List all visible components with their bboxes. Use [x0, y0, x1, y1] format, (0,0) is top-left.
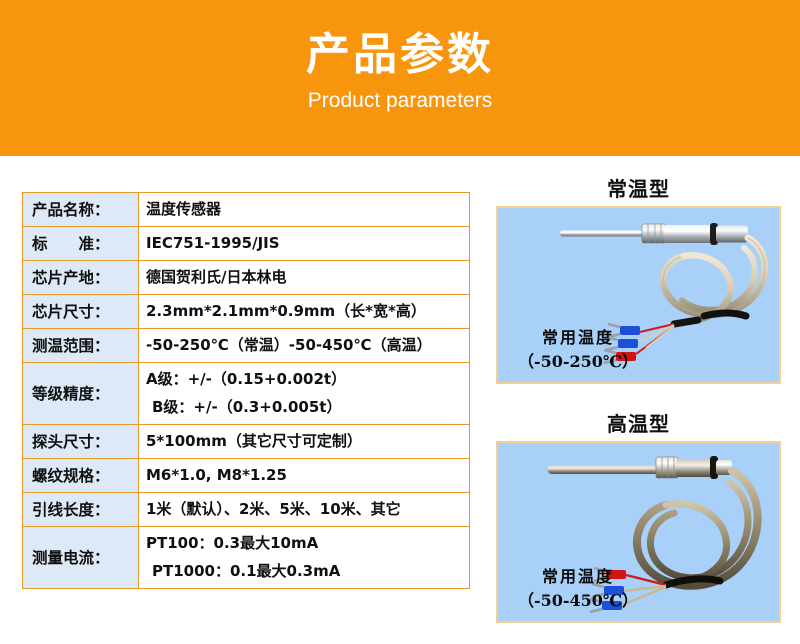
- product-card-title-normal-temp: 常温型: [496, 176, 781, 206]
- spec-value-standard: IEC751-1995/JIS: [139, 227, 470, 261]
- spec-label-measuring-current: 测量电流：: [23, 527, 139, 589]
- caption-line-1: 常用温度: [508, 565, 648, 589]
- spec-label-probe-size: 探头尺寸：: [23, 425, 139, 459]
- table-row: 产品名称： 温度传感器: [23, 193, 470, 227]
- page-header-banner: 产品参数 Product parameters: [0, 0, 800, 156]
- page-subtitle: Product parameters: [0, 88, 800, 114]
- table-row: 等级精度： A级：+/-（0.15+0.002t） B级：+/-（0.3+0.0…: [23, 363, 470, 425]
- spec-value-product-name: 温度传感器: [139, 193, 470, 227]
- product-photo-caption-high-temp: 常用温度 （-50-450℃）: [508, 565, 648, 613]
- spec-label-temp-range: 测温范围：: [23, 329, 139, 363]
- table-row: 标 准： IEC751-1995/JIS: [23, 227, 470, 261]
- banner-text-group: 产品参数 Product parameters: [0, 28, 800, 114]
- spec-label-thread-spec: 螺纹规格：: [23, 459, 139, 493]
- current-pt1000: PT1000：0.1最大0.3mA: [146, 561, 465, 582]
- table-row: 芯片产地： 德国贺利氏/日本林电: [23, 261, 470, 295]
- spec-label-chip-size: 芯片尺寸：: [23, 295, 139, 329]
- spec-table-body: 产品名称： 温度传感器 标 准： IEC751-1995/JIS 芯片产地： 德…: [23, 193, 470, 589]
- table-row: 螺纹规格： M6*1.0, M8*1.25: [23, 459, 470, 493]
- table-row: 测温范围： -50-250℃（常温）-50-450℃（高温）: [23, 329, 470, 363]
- spec-value-probe-size: 5*100mm（其它尺寸可定制）: [139, 425, 470, 459]
- spec-value-lead-length: 1米（默认）、2米、5米、10米、其它: [139, 493, 470, 527]
- spec-label-standard: 标 准：: [23, 227, 139, 261]
- caption-line-2: （-50-450℃）: [508, 589, 648, 613]
- table-row: 测量电流： PT100：0.3最大10mA PT1000：0.1最大0.3mA: [23, 527, 470, 589]
- product-card-high-temp: 高温型: [496, 411, 781, 623]
- spec-label-chip-origin: 芯片产地：: [23, 261, 139, 295]
- product-photo-high-temp: 常用温度 （-50-450℃）: [496, 441, 781, 623]
- accuracy-class-b: B级：+/-（0.3+0.005t）: [146, 397, 465, 418]
- caption-line-2: （-50-250℃）: [508, 350, 648, 374]
- spec-value-measuring-current: PT100：0.3最大10mA PT1000：0.1最大0.3mA: [139, 527, 470, 589]
- accuracy-class-a: A级：+/-（0.15+0.002t）: [146, 370, 346, 388]
- product-card-normal-temp: 常温型: [496, 176, 781, 384]
- spec-value-chip-size: 2.3mm*2.1mm*0.9mm（长*宽*高）: [139, 295, 470, 329]
- spec-value-chip-origin: 德国贺利氏/日本林电: [139, 261, 470, 295]
- table-row: 芯片尺寸： 2.3mm*2.1mm*0.9mm（长*宽*高）: [23, 295, 470, 329]
- page-title: 产品参数: [0, 28, 800, 82]
- table-row: 探头尺寸： 5*100mm（其它尺寸可定制）: [23, 425, 470, 459]
- caption-line-1: 常用温度: [508, 326, 648, 350]
- spec-value-accuracy-class: A级：+/-（0.15+0.002t） B级：+/-（0.3+0.005t）: [139, 363, 470, 425]
- spec-label-product-name: 产品名称：: [23, 193, 139, 227]
- product-photo-caption-normal-temp: 常用温度 （-50-250℃）: [508, 326, 648, 374]
- product-photo-normal-temp: 常用温度 （-50-250℃）: [496, 206, 781, 384]
- table-row: 引线长度： 1米（默认）、2米、5米、10米、其它: [23, 493, 470, 527]
- spec-value-thread-spec: M6*1.0, M8*1.25: [139, 459, 470, 493]
- spec-value-temp-range: -50-250℃（常温）-50-450℃（高温）: [139, 329, 470, 363]
- product-specification-table: 产品名称： 温度传感器 标 准： IEC751-1995/JIS 芯片产地： 德…: [22, 192, 470, 589]
- current-pt100: PT100：0.3最大10mA: [146, 534, 318, 552]
- spec-label-lead-length: 引线长度：: [23, 493, 139, 527]
- spec-label-accuracy-class: 等级精度：: [23, 363, 139, 425]
- product-card-title-high-temp: 高温型: [496, 411, 781, 441]
